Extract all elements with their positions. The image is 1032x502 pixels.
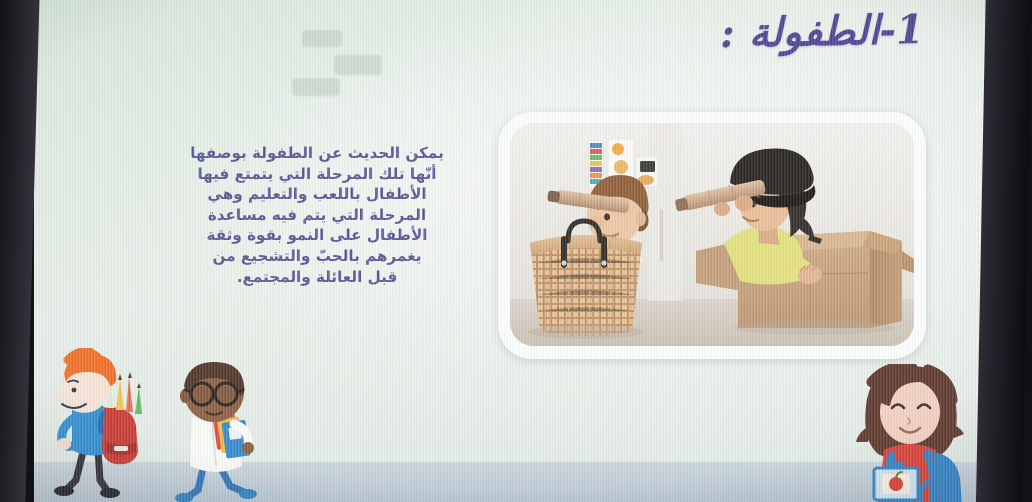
presentation-slide: 1-الطفولة : يمكن الحديث عن الطفولة بوصفه… bbox=[34, 0, 996, 502]
children-playing-illustration bbox=[510, 123, 914, 346]
photo-card bbox=[498, 112, 926, 359]
character-boy-with-backpack bbox=[38, 348, 164, 498]
decor-shape-3 bbox=[292, 78, 340, 96]
photographed-screen: 1-الطفولة : يمكن الحديث عن الطفولة بوصفه… bbox=[0, 0, 1032, 502]
body-line-3: الأطفال باللعب والتعليم وهي bbox=[186, 184, 448, 205]
body-line-7: قبل العائلة والمجتمع. bbox=[186, 267, 448, 288]
character-boy-with-glasses bbox=[160, 356, 278, 502]
decor-shape-1 bbox=[302, 30, 342, 47]
screen-bezel-right bbox=[975, 0, 1032, 502]
body-paragraph: يمكن الحديث عن الطفولة بوصفها أنّها تلك … bbox=[186, 143, 448, 287]
page-title: 1-الطفولة : bbox=[720, 6, 925, 57]
character-girl-with-lunchbox bbox=[836, 364, 986, 502]
decor-shape-2 bbox=[334, 55, 382, 75]
boy-with-glasses-icon bbox=[160, 356, 278, 502]
body-line-5: الأطفال على النمو بقوة وثقة bbox=[186, 225, 448, 246]
body-line-2: أنّها تلك المرحلة التي يتمتع فيها bbox=[186, 164, 448, 185]
girl-with-lunchbox-icon bbox=[836, 364, 986, 502]
body-line-1: يمكن الحديث عن الطفولة بوصفها bbox=[186, 143, 448, 164]
body-line-6: يغمرهم بالحبّ والتشجيع من bbox=[186, 246, 448, 267]
photo-image bbox=[510, 123, 914, 346]
boy-with-backpack-icon bbox=[38, 348, 164, 498]
body-line-4: المرحلة التي يتم فيه مساعدة bbox=[186, 205, 448, 226]
